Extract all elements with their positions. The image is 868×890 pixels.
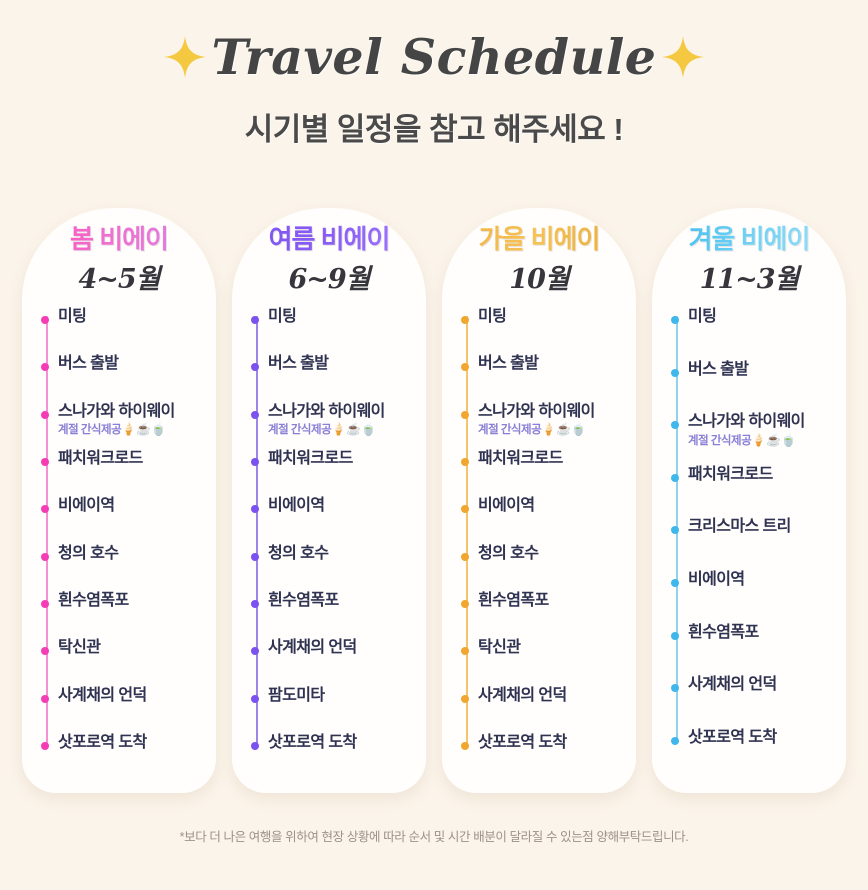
timeline-item[interactable]: 패치워크로드 [672,466,842,484]
timeline-item[interactable]: 탁신관 [42,639,212,657]
timeline-item-label: 패치워크로드 [688,466,842,484]
timeline-list: 미팅버스 출발스나가와 하이웨이계절 간식제공🍦☕🍵패치워크로드비에이역청의 호… [232,308,426,793]
timeline-dot-icon [251,742,259,750]
season-title: 봄 비에이 [22,224,216,255]
timeline-dot-icon [461,411,469,419]
timeline-item-label: 사계채의 언덕 [268,639,422,657]
timeline-dot-icon [251,647,259,655]
timeline-item[interactable]: 비에이역 [462,497,632,515]
subnote-text: 계절 간식제공 [268,424,331,436]
timeline-item-label: 탁신관 [58,639,212,657]
timeline-dot-icon [41,316,49,324]
timeline-item[interactable]: 비에이역 [672,571,842,589]
timeline-item[interactable]: 비에이역 [42,497,212,515]
page-title: Travel Schedule [212,28,657,86]
timeline-item[interactable]: 사계채의 언덕 [42,687,212,705]
card-header: 가을 비에이 10월 [442,208,636,296]
timeline-item[interactable]: 미팅 [42,308,212,326]
timeline-line [466,316,468,746]
timeline-dot-icon [251,411,259,419]
timeline-item[interactable]: 흰수염폭포 [672,624,842,642]
timeline-dot-icon [671,737,679,745]
timeline-item-label: 비에이역 [688,571,842,589]
timeline-item[interactable]: 스나가와 하이웨이계절 간식제공🍦☕🍵 [252,403,422,438]
timeline-item-label: 스나가와 하이웨이 [58,403,212,421]
timeline-dot-icon [251,695,259,703]
timeline-dot-icon [461,742,469,750]
timeline-list: 미팅버스 출발스나가와 하이웨이계절 간식제공🍦☕🍵패치워크로드크리스마스 트리… [652,308,846,793]
timeline-item[interactable]: 미팅 [252,308,422,326]
season-months: 6~9월 [232,257,426,296]
timeline-item-label: 패치워크로드 [478,450,632,468]
timeline-dot-icon [251,316,259,324]
timeline-item-subnote: 계절 간식제공🍦☕🍵 [268,421,422,437]
season-cards: 봄 비에이 4~5월 미팅버스 출발스나가와 하이웨이계절 간식제공🍦☕🍵패치워… [22,208,846,793]
subnote-text: 계절 간식제공 [58,424,121,436]
season-card-spring: 봄 비에이 4~5월 미팅버스 출발스나가와 하이웨이계절 간식제공🍦☕🍵패치워… [22,208,216,793]
timeline-item-label: 사계채의 언덕 [478,687,632,705]
timeline-item[interactable]: 버스 출발 [672,361,842,379]
timeline-dot-icon [251,505,259,513]
timeline-item-label: 청의 호수 [268,545,422,563]
timeline-dot-icon [461,647,469,655]
timeline-item[interactable]: 청의 호수 [462,545,632,563]
timeline-item-label: 흰수염폭포 [478,592,632,610]
page-subtitle: 시기별 일정을 참고 해주세요 ! [0,104,868,149]
timeline-item-label: 삿포로역 도착 [268,734,422,752]
timeline-list: 미팅버스 출발스나가와 하이웨이계절 간식제공🍦☕🍵패치워크로드비에이역청의 호… [22,308,216,793]
timeline-dot-icon [671,474,679,482]
timeline-dot-icon [671,369,679,377]
page-header: Travel Schedule 시기별 일정을 참고 해주세요 ! [0,0,868,149]
timeline-item-label: 크리스마스 트리 [688,518,842,536]
title-row: Travel Schedule [0,28,868,86]
timeline-item[interactable]: 사계채의 언덕 [462,687,632,705]
timeline-item-label: 흰수염폭포 [268,592,422,610]
timeline-item-label: 비에이역 [268,497,422,515]
timeline-item[interactable]: 패치워크로드 [42,450,212,468]
timeline-item-label: 비에이역 [478,497,632,515]
timeline-item[interactable]: 팜도미타 [252,687,422,705]
timeline-item-label: 미팅 [58,308,212,326]
timeline-dot-icon [671,684,679,692]
timeline-item[interactable]: 미팅 [672,308,842,326]
travel-schedule-page: Travel Schedule 시기별 일정을 참고 해주세요 ! 봄 비에이 … [0,0,868,890]
timeline-item[interactable]: 삿포로역 도착 [462,734,632,752]
timeline-item[interactable]: 삿포로역 도착 [252,734,422,752]
timeline-dot-icon [41,458,49,466]
timeline-item[interactable]: 사계채의 언덕 [252,639,422,657]
card-header: 봄 비에이 4~5월 [22,208,216,296]
timeline-item[interactable]: 미팅 [462,308,632,326]
timeline-item[interactable]: 스나가와 하이웨이계절 간식제공🍦☕🍵 [462,403,632,438]
timeline-item[interactable]: 버스 출발 [42,355,212,373]
timeline-item-label: 미팅 [478,308,632,326]
timeline-item-subnote: 계절 간식제공🍦☕🍵 [688,432,842,448]
timeline-item-label: 버스 출발 [268,355,422,373]
timeline-item[interactable]: 사계채의 언덕 [672,676,842,694]
timeline-item-label: 비에이역 [58,497,212,515]
timeline-item[interactable]: 청의 호수 [252,545,422,563]
timeline-dot-icon [461,695,469,703]
timeline-item-label: 흰수염폭포 [688,624,842,642]
timeline-dot-icon [461,458,469,466]
timeline-dot-icon [41,505,49,513]
timeline-item-label: 청의 호수 [478,545,632,563]
snack-emoji-icons: 🍦☕🍵 [541,422,586,436]
timeline-item-subnote: 계절 간식제공🍦☕🍵 [58,421,212,437]
timeline-list: 미팅버스 출발스나가와 하이웨이계절 간식제공🍦☕🍵패치워크로드비에이역청의 호… [442,308,636,793]
timeline-dot-icon [251,363,259,371]
timeline-item[interactable]: 패치워크로드 [252,450,422,468]
timeline-dot-icon [41,411,49,419]
timeline-item[interactable]: 흰수염폭포 [42,592,212,610]
subnote-text: 계절 간식제공 [478,424,541,436]
timeline-item[interactable]: 삿포로역 도착 [672,729,842,747]
season-months: 4~5월 [22,257,216,296]
timeline-item[interactable]: 탁신관 [462,639,632,657]
timeline-item[interactable]: 크리스마스 트리 [672,518,842,536]
timeline-dot-icon [251,458,259,466]
timeline-item-label: 삿포로역 도착 [688,729,842,747]
timeline-dot-icon [671,316,679,324]
timeline-item-label: 패치워크로드 [268,450,422,468]
snack-emoji-icons: 🍦☕🍵 [751,433,796,447]
snack-emoji-icons: 🍦☕🍵 [331,422,376,436]
card-header: 여름 비에이 6~9월 [232,208,426,296]
timeline-item[interactable]: 버스 출발 [252,355,422,373]
season-title: 여름 비에이 [232,224,426,255]
sparkle-four-point-icon [660,34,706,80]
timeline-line [46,316,48,746]
timeline-dot-icon [41,553,49,561]
timeline-item-label: 청의 호수 [58,545,212,563]
timeline-item[interactable]: 패치워크로드 [462,450,632,468]
timeline-item-label: 스나가와 하이웨이 [268,403,422,421]
timeline-item[interactable]: 흰수염폭포 [462,592,632,610]
season-months: 10월 [442,257,636,296]
timeline-dot-icon [461,363,469,371]
timeline-dot-icon [671,632,679,640]
timeline-item-label: 삿포로역 도착 [58,734,212,752]
timeline-item-subnote: 계절 간식제공🍦☕🍵 [478,421,632,437]
timeline-item[interactable]: 스나가와 하이웨이계절 간식제공🍦☕🍵 [672,413,842,448]
timeline-dot-icon [461,505,469,513]
timeline-item[interactable]: 비에이역 [252,497,422,515]
timeline-item-label: 미팅 [688,308,842,326]
timeline-dot-icon [251,553,259,561]
timeline-item[interactable]: 삿포로역 도착 [42,734,212,752]
timeline-item[interactable]: 버스 출발 [462,355,632,373]
timeline-item-label: 버스 출발 [58,355,212,373]
timeline-item-label: 스나가와 하이웨이 [478,403,632,421]
timeline-item-label: 패치워크로드 [58,450,212,468]
timeline-item-label: 버스 출발 [478,355,632,373]
timeline-dot-icon [251,600,259,608]
timeline-item[interactable]: 흰수염폭포 [252,592,422,610]
timeline-dot-icon [41,363,49,371]
season-card-autumn: 가을 비에이 10월 미팅버스 출발스나가와 하이웨이계절 간식제공🍦☕🍵패치워… [442,208,636,793]
timeline-line [256,316,258,746]
timeline-dot-icon [461,316,469,324]
timeline-dot-icon [671,579,679,587]
timeline-item[interactable]: 청의 호수 [42,545,212,563]
timeline-item[interactable]: 스나가와 하이웨이계절 간식제공🍦☕🍵 [42,403,212,438]
season-months: 11~3월 [652,257,846,296]
season-card-winter: 겨울 비에이 11~3월 미팅버스 출발스나가와 하이웨이계절 간식제공🍦☕🍵패… [652,208,846,793]
timeline-item-label: 버스 출발 [688,361,842,379]
timeline-dot-icon [671,526,679,534]
timeline-item-label: 사계채의 언덕 [58,687,212,705]
sparkle-four-point-icon [162,34,208,80]
season-title: 가을 비에이 [442,224,636,255]
timeline-item-label: 팜도미타 [268,687,422,705]
timeline-item-label: 탁신관 [478,639,632,657]
timeline-item-label: 미팅 [268,308,422,326]
timeline-dot-icon [671,421,679,429]
card-header: 겨울 비에이 11~3월 [652,208,846,296]
snack-emoji-icons: 🍦☕🍵 [121,422,166,436]
subnote-text: 계절 간식제공 [688,435,751,447]
season-title: 겨울 비에이 [652,224,846,255]
timeline-dot-icon [41,695,49,703]
timeline-dot-icon [41,600,49,608]
timeline-item-label: 사계채의 언덕 [688,676,842,694]
timeline-item-label: 삿포로역 도착 [478,734,632,752]
timeline-item-label: 스나가와 하이웨이 [688,413,842,431]
timeline-dot-icon [461,553,469,561]
timeline-dot-icon [461,600,469,608]
timeline-dot-icon [41,742,49,750]
footer-note: *보다 더 나은 여행을 위하여 현장 상황에 따라 순서 및 시간 배분이 달… [0,826,868,845]
timeline-item-label: 흰수염폭포 [58,592,212,610]
timeline-dot-icon [41,647,49,655]
season-card-summer: 여름 비에이 6~9월 미팅버스 출발스나가와 하이웨이계절 간식제공🍦☕🍵패치… [232,208,426,793]
